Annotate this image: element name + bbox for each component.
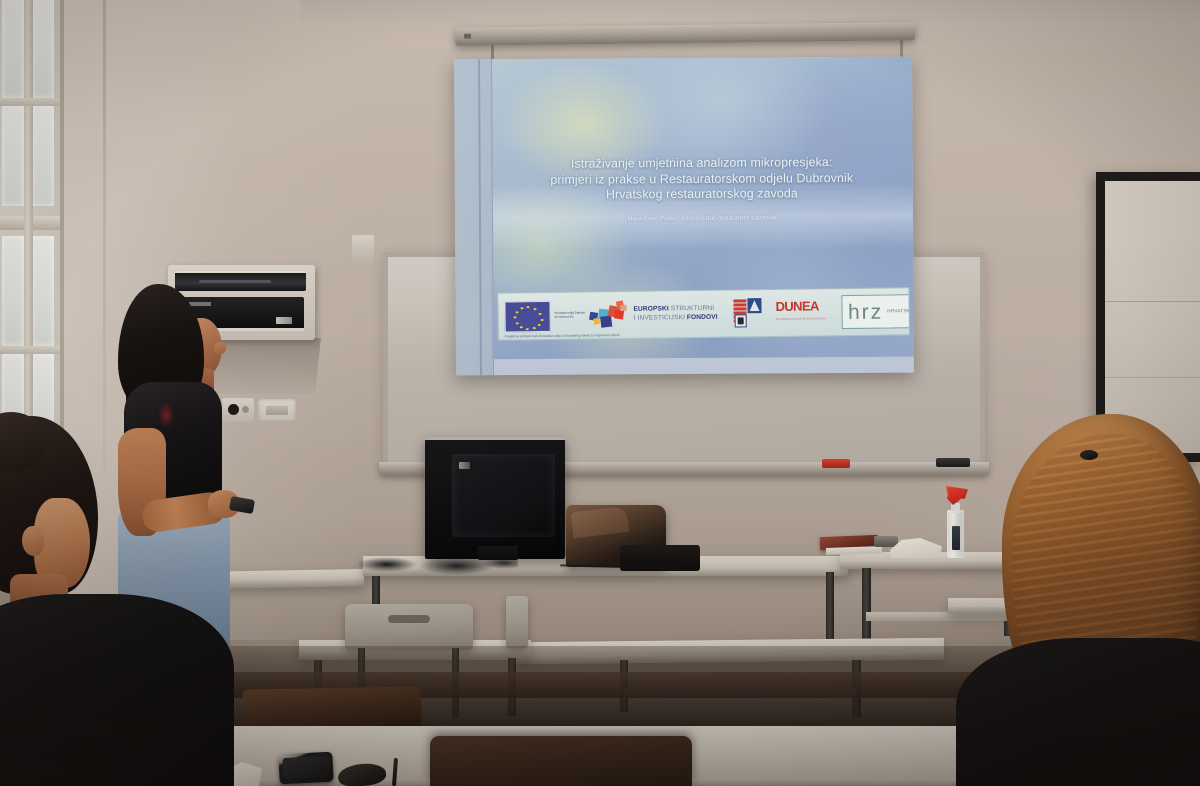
monitor-power-led <box>459 462 470 469</box>
board-seam <box>1105 301 1200 302</box>
hrz-fullname: HRVATSKI RESTAURATORSKI ZAVOD <box>887 308 910 315</box>
esif-logo-icon <box>589 300 631 331</box>
window-pane <box>2 236 24 346</box>
attendee-left-body <box>0 594 234 786</box>
spray-bottle[interactable] <box>944 486 966 558</box>
bag-flap <box>571 506 630 539</box>
presenter-nose <box>214 342 226 354</box>
computer-monitor[interactable] <box>425 437 565 559</box>
chair[interactable] <box>345 604 473 650</box>
esif-line1-bold: EUROPSKI <box>633 306 668 313</box>
attendee-right <box>968 414 1200 786</box>
network-outlet[interactable] <box>258 399 296 422</box>
slide-logo-strip: Europska unija Zajedno do fondova EU EUR… <box>497 287 910 340</box>
window-pane <box>32 106 54 206</box>
ac-display <box>276 317 292 324</box>
window-pane <box>2 0 24 98</box>
projected-slide: Istraživanje umjetnina analizom mikropre… <box>490 57 914 360</box>
window-mullion <box>24 0 33 464</box>
window-mullion <box>0 346 60 354</box>
hrz-wordmark: hrz <box>848 301 883 322</box>
black-marker[interactable] <box>936 458 970 467</box>
screen-left-margin <box>454 59 494 375</box>
slide-title: Istraživanje umjetnina analizom mikropre… <box>499 155 905 204</box>
smartphone[interactable] <box>278 752 333 785</box>
wall-junction-box <box>352 235 374 265</box>
croatia-emblem-icon <box>733 298 761 328</box>
window-pane <box>32 236 54 346</box>
window-pane <box>2 106 24 206</box>
bottle-label <box>952 526 960 550</box>
esif-line2-bold: FONDOVI <box>687 314 718 321</box>
board-seam <box>1105 377 1200 378</box>
classroom-photo: Istraživanje umjetnina analizom mikropre… <box>0 0 1200 786</box>
esif-line2-light: I INVESTICIJSKI <box>634 314 687 322</box>
chair[interactable] <box>506 596 528 648</box>
chair[interactable] <box>243 686 422 729</box>
eu-flag-caption: Europska unija Zajedno do fondova EU <box>555 312 587 320</box>
eu-flag-icon <box>504 300 550 332</box>
window-pane <box>32 0 54 98</box>
desk-leg <box>826 572 834 648</box>
desk-leg <box>862 568 871 642</box>
esif-line1-light: STRUKTURNI <box>669 305 715 313</box>
hrz-logo: hrz HRVATSKI RESTAURATORSKI ZAVOD <box>842 293 910 329</box>
window-mullion <box>0 98 60 106</box>
attendee-left-ear <box>22 526 44 556</box>
red-marker[interactable] <box>822 459 850 468</box>
ceiling-edge <box>300 0 1200 26</box>
eu-funding-fineprint: Projekt je sufinancirala Europska unija … <box>505 331 805 339</box>
window <box>0 0 64 464</box>
spray-trigger <box>945 488 965 505</box>
projection-screen: Istraživanje umjetnina analizom mikropre… <box>454 57 914 376</box>
whiteboard-eraser[interactable] <box>874 536 898 547</box>
hair-clip <box>1080 450 1098 460</box>
cable-bundle <box>343 548 518 578</box>
bottle-neck <box>951 503 960 513</box>
attendee-left <box>0 416 260 786</box>
dunea-subtitle: REGIONALNA RAZVOJNA AGENCIJA <box>776 312 827 326</box>
esif-logo-text: EUROPSKI STRUKTURNI I INVESTICIJSKI FOND… <box>633 305 717 323</box>
chair-handle-slot <box>388 615 430 623</box>
attendee-right-body <box>956 638 1200 786</box>
phone-screen <box>282 756 329 779</box>
dunea-logo: DUNEA REGIONALNA RAZVOJNA AGENCIJA <box>775 299 826 326</box>
chair[interactable] <box>430 736 692 786</box>
